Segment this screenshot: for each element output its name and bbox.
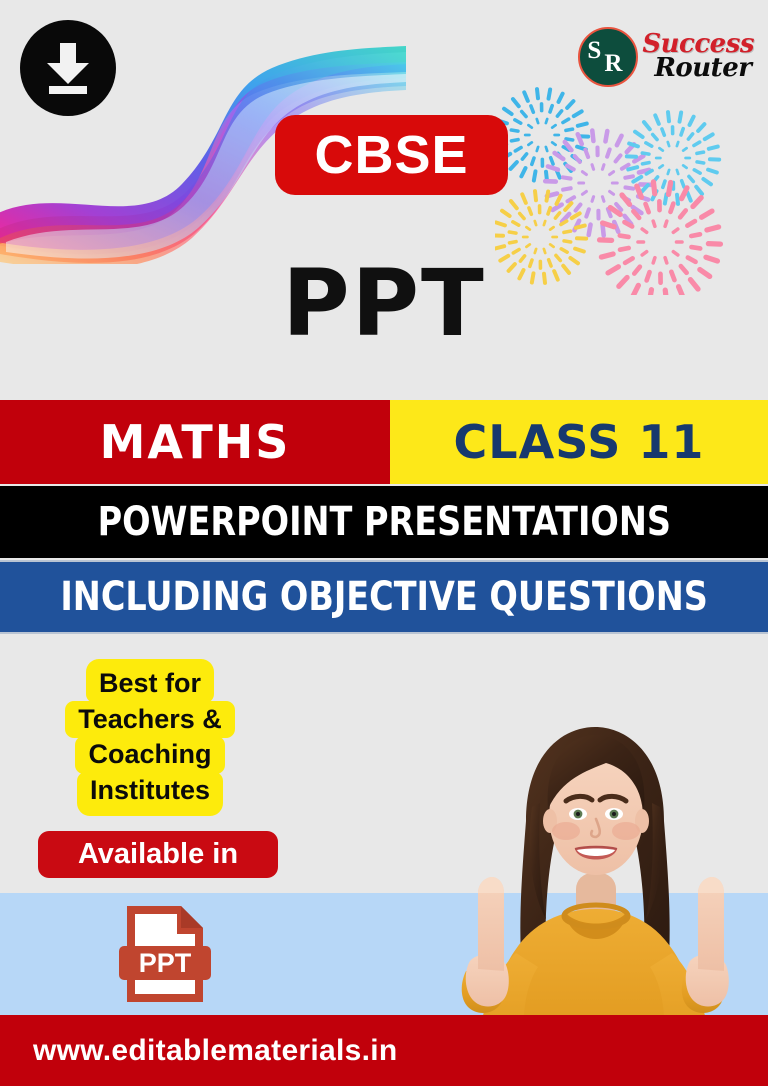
firework-burst-cyan — [627, 112, 719, 204]
presentations-band: POWERPOINT PRESENTATIONS — [0, 486, 768, 558]
best-for-line: Teachers & — [65, 701, 235, 739]
brand-monogram-circle: S R — [578, 27, 638, 87]
class-label: CLASS 11 — [454, 415, 705, 469]
footer-url-band: www.editablematerials.in — [0, 1015, 768, 1086]
download-icon[interactable] — [20, 20, 116, 116]
monogram-s: S — [587, 38, 601, 63]
class-chip: CLASS 11 — [390, 400, 768, 484]
ppt-file-icon: PPT — [119, 902, 211, 1006]
objective-questions-label: INCLUDING OBJECTIVE QUESTIONS — [60, 574, 707, 620]
best-for-line: Institutes — [77, 772, 223, 816]
brand-word-router: Router — [654, 57, 754, 81]
board-badge: CBSE — [275, 115, 508, 195]
best-for-line: Best for — [86, 659, 214, 703]
presentations-label: POWERPOINT PRESENTATIONS — [97, 499, 670, 545]
best-for-line: Coaching — [75, 736, 224, 774]
brand-logo: S R Success Router — [578, 26, 754, 88]
poster-root: S R Success Router CBSE PPT MATHS CLASS … — [0, 0, 768, 1086]
lightblue-strip — [0, 893, 768, 1015]
available-in-badge: Available in — [38, 831, 278, 878]
available-in-label: Available in — [78, 838, 238, 871]
board-badge-label: CBSE — [314, 124, 468, 186]
monogram-r: R — [604, 51, 622, 76]
firework-burst-blue — [496, 89, 588, 181]
page-title: PPT — [0, 258, 768, 350]
objective-questions-band: INCLUDING OBJECTIVE QUESTIONS — [0, 560, 768, 634]
subject-chip: MATHS — [0, 400, 390, 484]
subject-class-band: MATHS CLASS 11 — [0, 400, 768, 484]
download-arrow-glyph — [41, 39, 95, 97]
ppt-file-icon-label: PPT — [139, 948, 192, 978]
brand-wordmark: Success Router — [642, 33, 754, 81]
best-for-badge: Best for Teachers & Coaching Institutes — [55, 660, 245, 815]
footer-url-label[interactable]: www.editablematerials.in — [33, 1034, 398, 1068]
subject-label: MATHS — [100, 415, 291, 469]
firework-burst-purple — [545, 131, 651, 236]
